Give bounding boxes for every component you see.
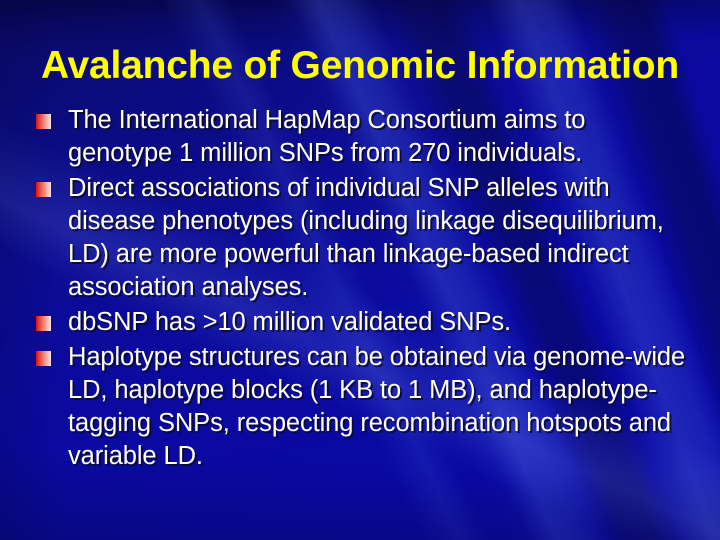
- bullet-square-icon: [36, 114, 51, 129]
- page-title: Avalanche of Genomic Information: [0, 44, 720, 88]
- list-item: dbSNP has >10 million validated SNPs.: [36, 306, 696, 339]
- bullet-list: The International HapMap Consortium aims…: [36, 104, 696, 475]
- list-item: Haplotype structures can be obtained via…: [36, 341, 696, 473]
- list-item-text: The International HapMap Consortium aims…: [68, 104, 696, 170]
- list-item-text: Haplotype structures can be obtained via…: [68, 341, 696, 473]
- list-item-text: Direct associations of individual SNP al…: [68, 172, 696, 304]
- slide-content: Avalanche of Genomic Information The Int…: [0, 0, 720, 540]
- bullet-square-icon: [36, 182, 51, 197]
- bullet-square-icon: [36, 316, 51, 331]
- list-item: Direct associations of individual SNP al…: [36, 172, 696, 304]
- list-item-text: dbSNP has >10 million validated SNPs.: [68, 306, 696, 339]
- list-item: The International HapMap Consortium aims…: [36, 104, 696, 170]
- presentation-slide: Avalanche of Genomic Information The Int…: [0, 0, 720, 540]
- bullet-square-icon: [36, 351, 51, 366]
